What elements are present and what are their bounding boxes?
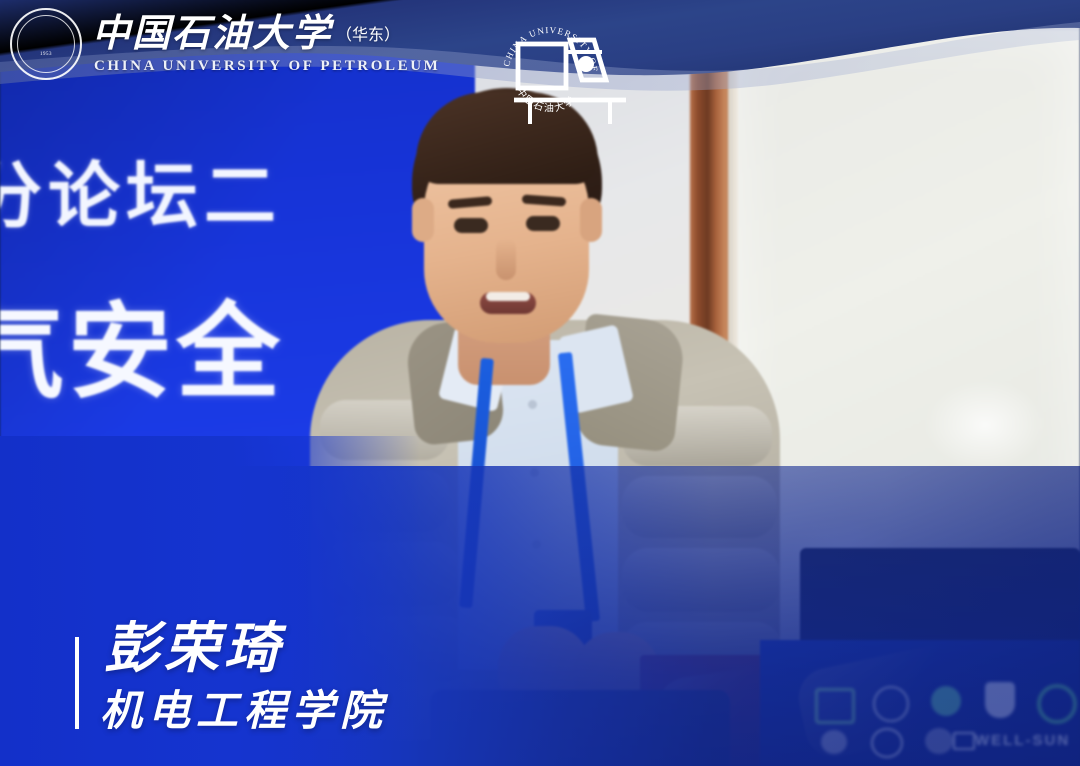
eye-right — [526, 216, 560, 231]
g-mark-icon — [815, 688, 855, 724]
shirt-button — [528, 400, 537, 409]
dot-icon — [821, 730, 847, 754]
ear-left — [412, 198, 434, 242]
conference-speaker-photo-card: 分论坛二 气安全 — [0, 0, 1080, 766]
filled-circle-icon — [925, 728, 953, 754]
speaker-name: 彭荣琦 — [104, 620, 284, 675]
eye-left — [454, 218, 488, 233]
hair-front — [416, 92, 598, 184]
shield-badge-icon — [985, 682, 1015, 718]
circle-ring-icon — [871, 728, 903, 758]
nose — [496, 238, 516, 280]
green-ring-icon — [1037, 684, 1077, 724]
circle-outline-icon — [873, 686, 909, 722]
name-accent-bar — [75, 637, 79, 729]
backdrop-headline-line1: 分论坛二 — [0, 160, 300, 232]
card-icon — [953, 732, 975, 750]
green-circle-icon — [931, 686, 961, 716]
teeth — [486, 292, 530, 301]
screen-glare-upper — [925, 380, 1045, 470]
ear-right — [580, 198, 602, 242]
sponsor-logo-strip: WELL-SUN — [815, 680, 1080, 758]
speaker-affiliation: 机电工程学院 — [100, 690, 388, 732]
sponsor-name: WELL-SUN — [975, 732, 1070, 749]
backdrop-headline-line2: 气安全 — [0, 300, 360, 404]
